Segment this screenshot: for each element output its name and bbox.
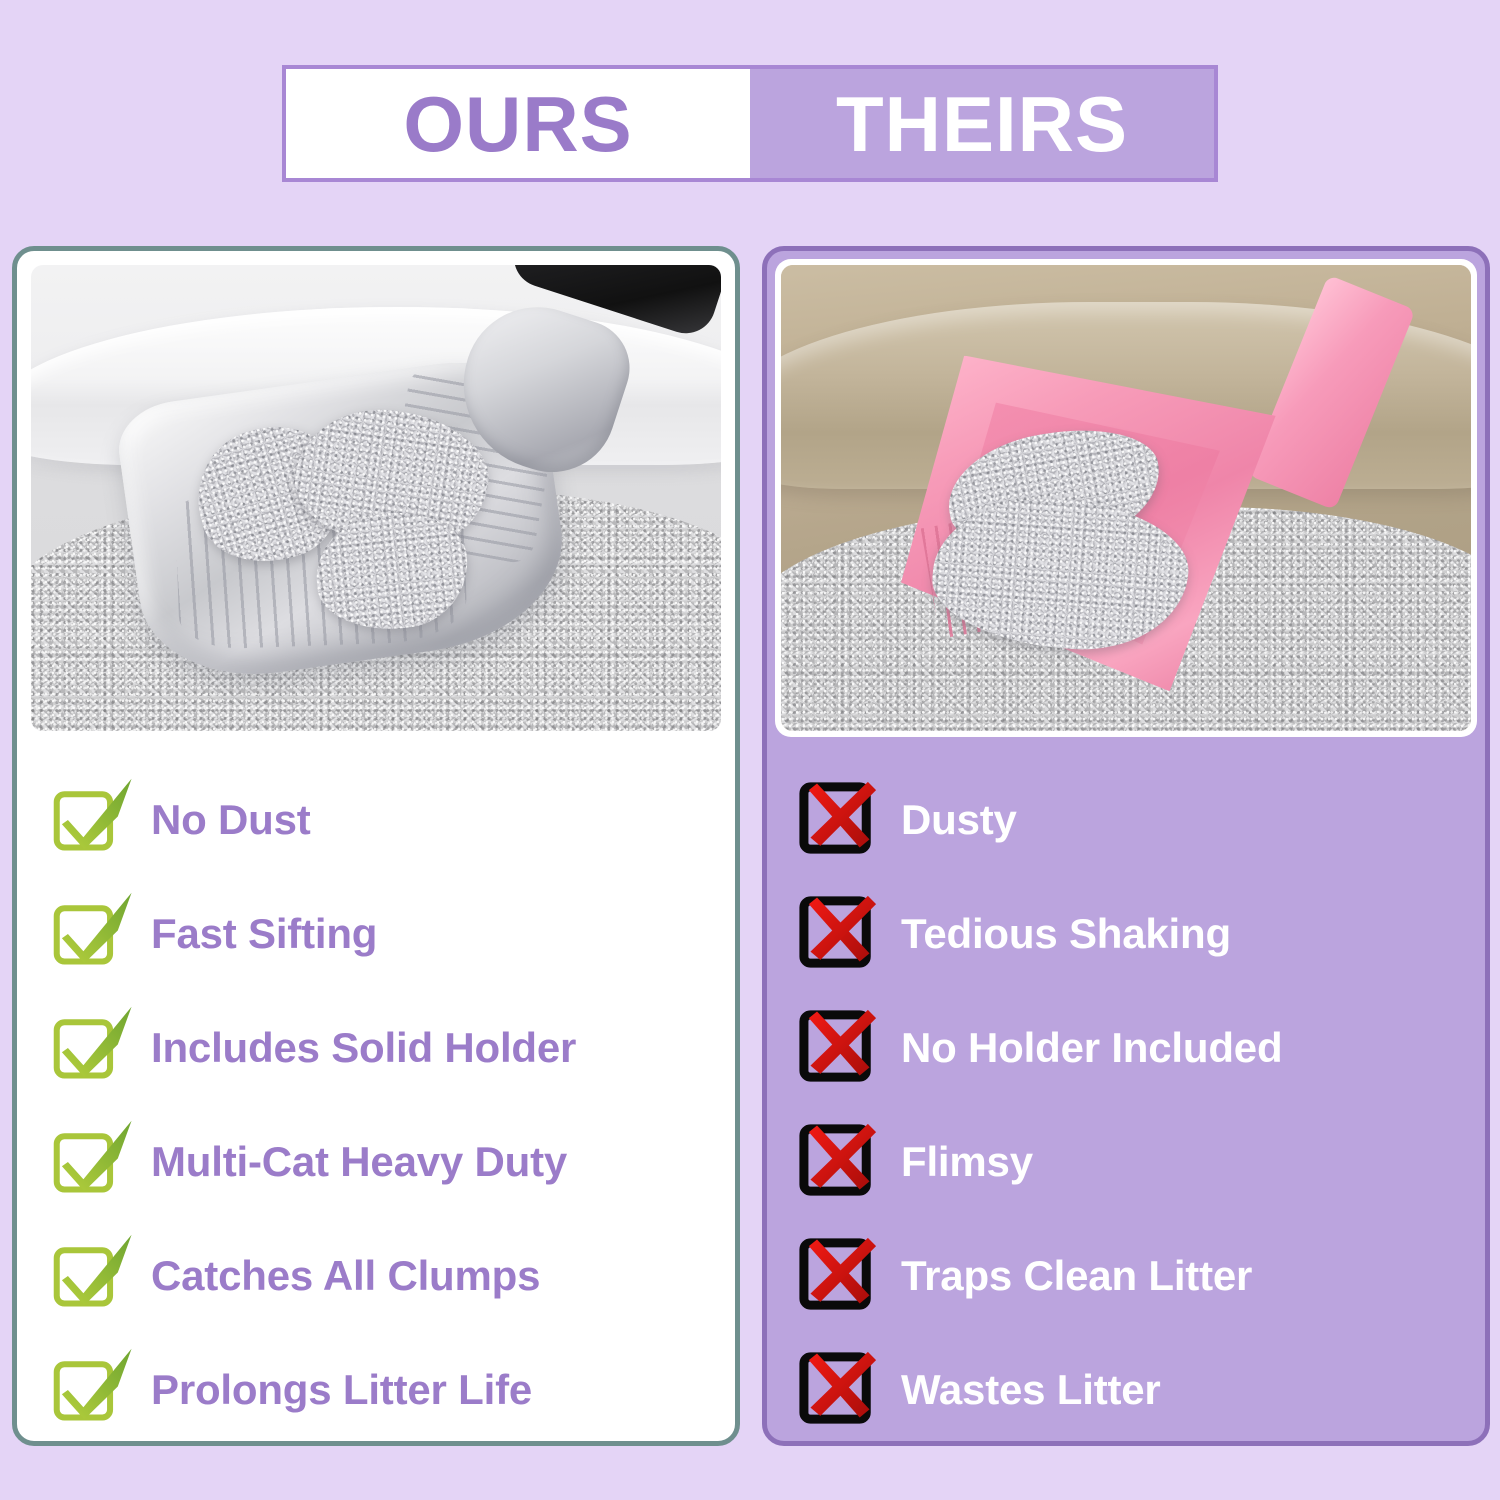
litter-clumps-group (197, 423, 528, 637)
comparison-header-banner: OURS THEIRS (282, 65, 1218, 182)
list-item-label: Prolongs Litter Life (151, 1368, 532, 1412)
list-item: Wastes Litter (799, 1333, 1485, 1446)
check-icon (49, 1005, 135, 1091)
check-icon (49, 1347, 135, 1433)
list-item: Fast Sifting (49, 877, 735, 991)
x-icon (799, 1347, 885, 1433)
check-icon (49, 1233, 135, 1319)
list-item: Catches All Clumps (49, 1219, 735, 1333)
ours-photo-frame (25, 259, 727, 737)
comparison-columns: No Dust Fast Sifting I (0, 246, 1500, 1466)
banner-theirs-label: THEIRS (836, 85, 1128, 163)
list-item: Prolongs Litter Life (49, 1333, 735, 1446)
x-icon (799, 777, 885, 863)
banner-theirs-half: THEIRS (750, 69, 1214, 178)
theirs-column: Dusty Tedious Shaking (762, 246, 1490, 1446)
list-item-label: Flimsy (901, 1140, 1033, 1184)
list-item: Multi-Cat Heavy Duty (49, 1105, 735, 1219)
list-item-label: No Holder Included (901, 1026, 1282, 1070)
ours-product-photo (31, 265, 721, 731)
banner-ours-half: OURS (286, 69, 750, 178)
litter-clumps-group (933, 433, 1278, 657)
list-item-label: Wastes Litter (901, 1368, 1161, 1412)
check-icon (49, 1119, 135, 1205)
theirs-photo-frame (775, 259, 1477, 737)
x-icon (799, 1119, 885, 1205)
list-item: Flimsy (799, 1105, 1485, 1219)
list-item: Dusty (799, 763, 1485, 877)
list-item-label: Tedious Shaking (901, 912, 1231, 956)
list-item: No Holder Included (799, 991, 1485, 1105)
check-icon (49, 891, 135, 977)
list-item-label: Fast Sifting (151, 912, 377, 956)
list-item-label: Multi-Cat Heavy Duty (151, 1140, 567, 1184)
list-item: No Dust (49, 763, 735, 877)
theirs-feature-list: Dusty Tedious Shaking (767, 737, 1485, 1446)
x-icon (799, 1233, 885, 1319)
x-icon (799, 891, 885, 977)
theirs-product-photo (781, 265, 1471, 731)
list-item-label: Dusty (901, 798, 1017, 842)
list-item-label: Traps Clean Litter (901, 1254, 1252, 1298)
list-item: Includes Solid Holder (49, 991, 735, 1105)
list-item-label: Includes Solid Holder (151, 1026, 576, 1070)
x-icon (799, 1005, 885, 1091)
ours-column: No Dust Fast Sifting I (12, 246, 740, 1446)
banner-ours-label: OURS (403, 85, 632, 163)
list-item-label: No Dust (151, 798, 311, 842)
list-item: Tedious Shaking (799, 877, 1485, 991)
list-item-label: Catches All Clumps (151, 1254, 540, 1298)
check-icon (49, 777, 135, 863)
ours-feature-list: No Dust Fast Sifting I (17, 737, 735, 1446)
list-item: Traps Clean Litter (799, 1219, 1485, 1333)
